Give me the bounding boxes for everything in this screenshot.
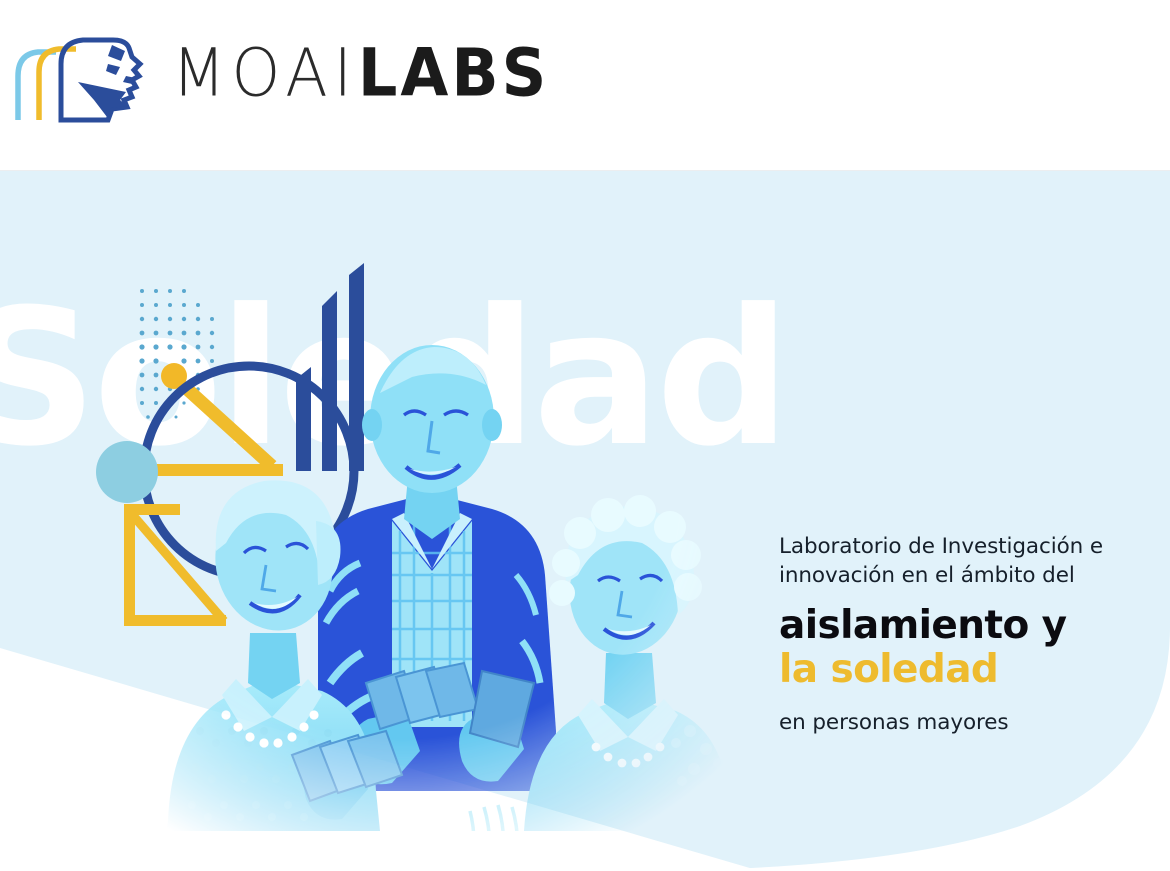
hero-tail-text: en personas mayores — [779, 709, 1139, 738]
brand-word-thin: MOAI — [172, 40, 358, 106]
hero-headline-accent: la soledad — [779, 648, 1139, 692]
hero-copy: Laboratorio de Investigación e innovació… — [779, 533, 1139, 737]
header-divider — [0, 170, 1170, 171]
brand-logo-link[interactable]: MOAI LABS — [8, 20, 549, 125]
hero-lead-line-1: Laboratorio de Investigación e — [779, 533, 1139, 562]
site-header: MOAI LABS — [0, 0, 1170, 171]
hero-lead-line-2: innovación en el ámbito del — [779, 562, 1139, 591]
hero-section: Soledad — [0, 171, 1170, 871]
brand-wordmark: MOAI LABS — [172, 42, 549, 104]
moai-head-logo-icon — [8, 20, 158, 125]
hero-headline: aislamiento y — [779, 604, 1139, 648]
seniors-photo — [0, 171, 1170, 871]
brand-word-bold: LABS — [358, 40, 549, 106]
